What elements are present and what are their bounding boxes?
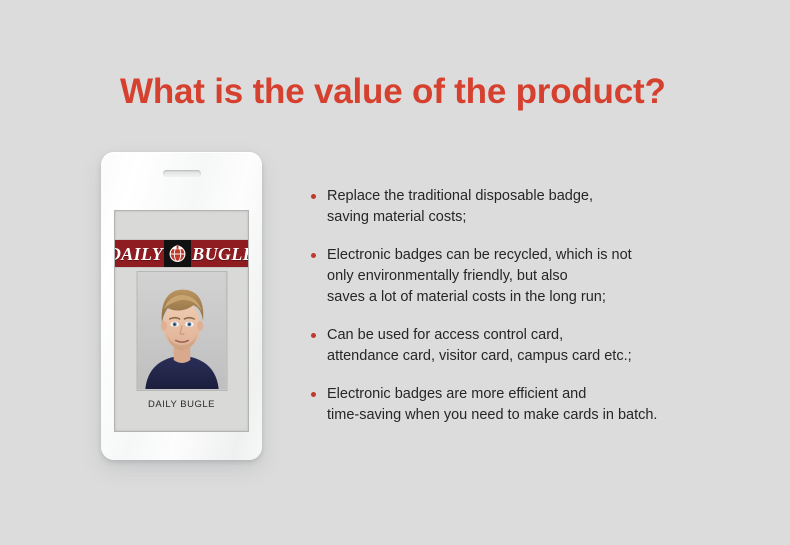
bullet-dot-icon (311, 253, 316, 258)
bullet-line: Electronic badges can be recycled, which… (327, 245, 740, 266)
badge-caption: DAILY BUGLE (115, 399, 248, 410)
bullet-line: Can be used for access control card, (327, 325, 740, 346)
masthead-word-left: DAILY (115, 245, 163, 263)
bullet-line: saves a lot of material costs in the lon… (327, 287, 740, 308)
bullet-line: Replace the traditional disposable badge… (327, 186, 740, 207)
badge-illustration: DAILY BUGLE (101, 152, 262, 460)
globe-emblem-icon (164, 240, 191, 267)
bullet-dot-icon (311, 392, 316, 397)
badge-reflection: DAILY BUGLE (101, 466, 262, 545)
portrait-photo (137, 272, 226, 389)
bullet-dot-icon (311, 333, 316, 338)
masthead-banner: DAILY BUGLE (115, 239, 248, 268)
slide-canvas: What is the value of the product? DAILY (0, 0, 790, 545)
bullet-line: time-saving when you need to make cards … (327, 405, 740, 426)
badge-card-body: DAILY BUGLE (101, 152, 262, 460)
bullet-item: Replace the traditional disposable badge… (310, 186, 740, 228)
bullet-item: Electronic badges can be recycled, which… (310, 245, 740, 308)
badge-eink-screen: DAILY BUGLE (114, 210, 249, 432)
bullet-line: Electronic badges are more efficient and (327, 384, 740, 405)
bullet-line: only environmentally friendly, but also (327, 266, 740, 287)
page-title: What is the value of the product? (120, 72, 666, 112)
bullet-dot-icon (311, 194, 316, 199)
masthead-word-right: BUGLE (192, 245, 248, 263)
value-bullet-list: Replace the traditional disposable badge… (310, 186, 740, 426)
screen-top-margin (115, 211, 248, 239)
bullet-item: Electronic badges are more efficient and… (310, 384, 740, 426)
bullet-item: Can be used for access control card,atte… (310, 325, 740, 367)
bullet-line: attendance card, visitor card, campus ca… (327, 346, 740, 367)
badge-photo-frame (136, 271, 227, 391)
lanyard-slot-icon (163, 170, 201, 177)
bullet-line: saving material costs; (327, 207, 740, 228)
